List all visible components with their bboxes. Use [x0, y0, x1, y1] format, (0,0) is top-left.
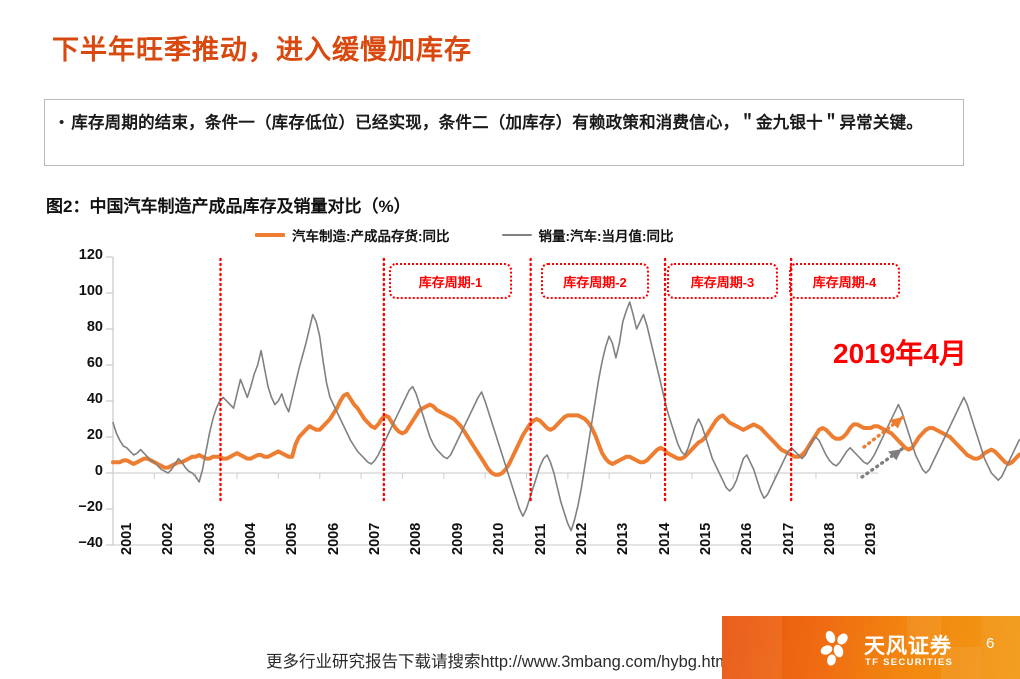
legend-swatch-inventory [255, 233, 285, 237]
cycle-box-label: 库存周期-1 [419, 272, 483, 291]
inventory-trend-arrow [864, 412, 907, 447]
x-axis-label: 2006 [326, 523, 342, 555]
chart-caption: 图2：中国汽车制造产成品库存及销量对比（%） [46, 192, 411, 217]
y-axis-label: 60 [57, 355, 103, 371]
x-axis-label: 2001 [119, 523, 135, 555]
sales-trend-arrow [862, 444, 905, 477]
y-axis-label: 120 [57, 247, 103, 263]
x-axis-label: 2002 [160, 523, 176, 555]
cycle-box-2: 库存周期-2 [541, 263, 649, 299]
x-axis-label: 2014 [657, 523, 673, 555]
brand-name-en: TF SECURITIES [865, 657, 953, 668]
brand-name-cn: 天风证券 [864, 630, 952, 660]
legend-item-sales: 销量:汽车:当月值:同比 [502, 225, 674, 245]
page-number: 6 [986, 635, 994, 652]
cycle-box-label: 库存周期-2 [563, 272, 627, 291]
x-axis-label: 2016 [739, 523, 755, 555]
cycle-box-3: 库存周期-3 [667, 263, 778, 299]
x-axis-label: 2018 [822, 523, 838, 555]
y-axis-label: 40 [57, 391, 103, 407]
footer-url-text: 更多行业研究报告下载请搜索http://www.3mbang.com/hybg.… [266, 648, 733, 672]
cycle-box-1: 库存周期-1 [389, 263, 512, 299]
y-axis-label: 100 [57, 283, 103, 299]
x-axis-label: 2015 [698, 523, 714, 555]
slide-root: 下半年旺季推动，进入缓慢加库存 • 库存周期的结束，条件一（库存低位）已经实现，… [0, 0, 1020, 679]
brand-footer-bar: 天风证券 TF SECURITIES 6 [722, 616, 1020, 679]
legend-swatch-sales [502, 234, 532, 237]
tf-securities-flower-icon [816, 628, 856, 668]
x-axis-label: 2013 [615, 523, 631, 555]
cycle-box-label: 库存周期-3 [691, 272, 755, 291]
x-axis-label: 2005 [284, 523, 300, 555]
x-axis-label: 2011 [533, 524, 549, 555]
bullet-row: • 库存周期的结束，条件一（库存低位）已经实现，条件二（加库存）有赖政策和消费信… [59, 110, 953, 137]
cycle-box-label: 库存周期-4 [813, 272, 877, 291]
date-annotation: 2019年4月 [833, 332, 967, 372]
bullet-callout-box: • 库存周期的结束，条件一（库存低位）已经实现，条件二（加库存）有赖政策和消费信… [44, 99, 964, 166]
x-axis-label: 2008 [408, 523, 424, 555]
y-axis-label: 20 [57, 427, 103, 443]
legend-item-inventory: 汽车制造:产成品存货:同比 [255, 225, 450, 245]
x-axis-label: 2009 [450, 523, 466, 555]
x-axis-label: 2012 [574, 523, 590, 555]
legend-label-inventory: 汽车制造:产成品存货:同比 [292, 225, 450, 245]
y-axis-label: −40 [57, 535, 103, 551]
x-axis-label: 2007 [367, 523, 383, 555]
page-title: 下半年旺季推动，进入缓慢加库存 [52, 28, 472, 67]
chart-legend: 汽车制造:产成品存货:同比 销量:汽车:当月值:同比 [255, 225, 674, 245]
bullet-marker-icon: • [59, 110, 64, 136]
bullet-text: 库存周期的结束，条件一（库存低位）已经实现，条件二（加库存）有赖政策和消费信心，… [71, 110, 923, 137]
x-axis-label: 2017 [781, 523, 797, 555]
x-axis-label: 2010 [491, 523, 507, 555]
y-axis-label: 0 [57, 463, 103, 479]
x-axis-label: 2004 [243, 523, 259, 555]
cycle-box-4: 库存周期-4 [789, 263, 900, 299]
x-axis-label: 2019 [863, 523, 879, 555]
legend-label-sales: 销量:汽车:当月值:同比 [539, 225, 674, 245]
y-axis-label: −20 [57, 499, 103, 515]
x-axis-label: 2003 [202, 523, 218, 555]
series-line-inventory [113, 394, 1020, 475]
y-axis-label: 80 [57, 319, 103, 335]
